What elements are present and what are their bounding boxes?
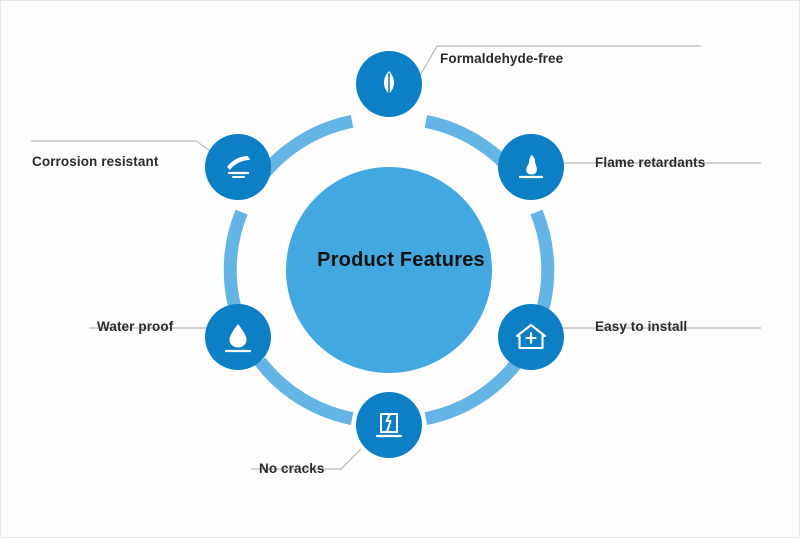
feature-node-formaldehyde[interactable]	[356, 51, 422, 117]
feature-node-flame[interactable]	[498, 134, 564, 200]
feature-node-install[interactable]	[498, 304, 564, 370]
leader-line-corrosion	[31, 141, 213, 153]
feature-label-flame: Flame retardants	[595, 155, 705, 170]
feature-label-install: Easy to install	[595, 319, 687, 334]
feature-label-water: Water proof	[97, 319, 173, 334]
flame-icon	[514, 150, 548, 184]
cracked-board-icon	[372, 408, 406, 442]
feature-node-cracks[interactable]	[356, 392, 422, 458]
house-icon	[514, 320, 548, 354]
feature-label-formaldehyde: Formaldehyde-free	[440, 51, 563, 66]
feature-label-cracks: No cracks	[259, 461, 324, 476]
feature-node-corrosion[interactable]	[205, 134, 271, 200]
feature-label-corrosion: Corrosion resistant	[32, 154, 158, 169]
feature-node-water[interactable]	[205, 304, 271, 370]
corrosion-beaker-icon	[220, 149, 256, 185]
product-features-diagram: Product Features Formaldehyde-free Flame…	[0, 0, 800, 538]
water-drop-icon	[221, 320, 255, 354]
page-title: Product Features	[1, 249, 800, 272]
leaf-icon	[372, 67, 406, 101]
